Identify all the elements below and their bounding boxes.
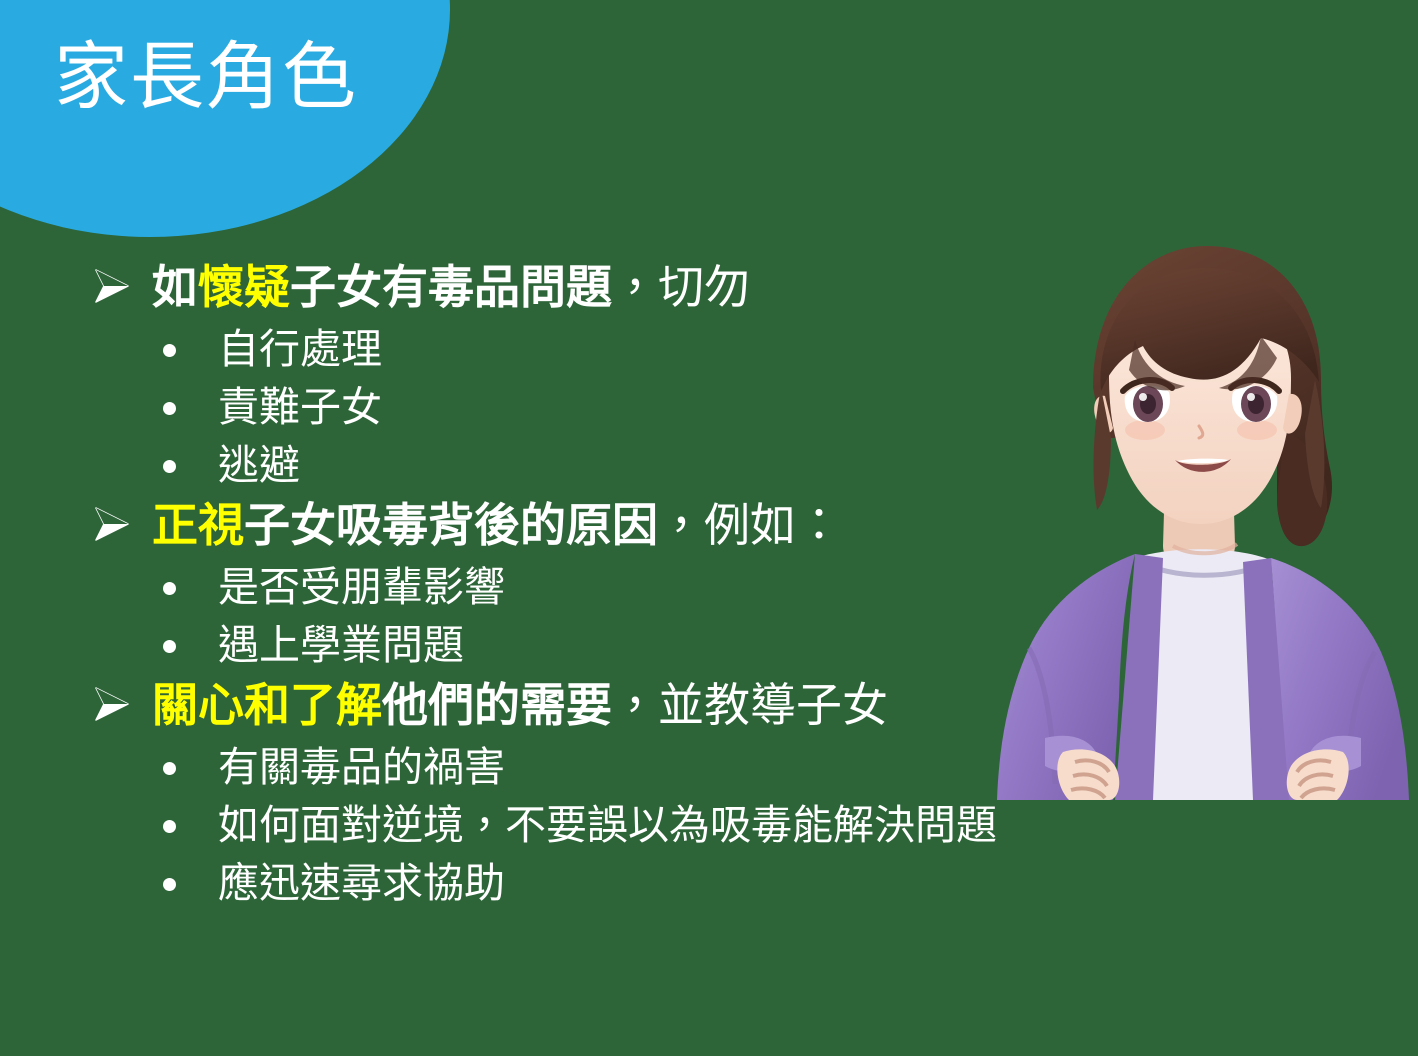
b2-part-2: ，例如： xyxy=(658,499,842,551)
sub-bullet-1-2-text: 責難子女 xyxy=(218,380,382,436)
arrow-bullet-icon xyxy=(90,264,134,308)
b3-part-2: ，並教導子女 xyxy=(612,679,888,731)
sub-bullet-1-3: 逃避 xyxy=(0,438,1010,496)
b1-part-0: 如 xyxy=(152,261,198,313)
dot-bullet-icon xyxy=(163,640,176,653)
sub-bullet-2-2: 遇上學業問題 xyxy=(0,618,1010,676)
b1-part-2: 子女有毒品問題 xyxy=(290,261,612,313)
main-bullet-3: 關心和了解他們的需要，並教導子女 xyxy=(0,676,1010,738)
arrow-bullet-icon xyxy=(90,502,134,546)
b3-part-0: 關心和了解 xyxy=(152,679,382,731)
main-bullet-2: 正視子女吸毒背後的原因，例如： xyxy=(0,496,1010,558)
b1-part-1: 懷疑 xyxy=(198,261,290,313)
dot-bullet-icon xyxy=(163,582,176,595)
sub-bullet-3-1-text: 有關毒品的禍害 xyxy=(218,740,505,796)
sub-bullet-3-3-text: 應迅速尋求協助 xyxy=(218,856,505,912)
sub-bullet-1-3-text: 逃避 xyxy=(218,438,300,494)
main-bullet-3-text: 關心和了解他們的需要，並教導子女 xyxy=(152,676,888,735)
sub-bullet-2-1-text: 是否受朋輩影響 xyxy=(218,560,505,616)
b2-part-0: 正視 xyxy=(152,499,244,551)
b3-part-1: 他們的需要 xyxy=(382,679,612,731)
main-bullet-1: 如懷疑子女有毒品問題，切勿 xyxy=(0,258,1010,320)
sub-bullet-3-3: 應迅速尋求協助 xyxy=(0,856,1010,914)
sub-bullet-3-2: 如何面對逆境，不要誤以為吸毒能解決問題 xyxy=(0,798,1010,856)
sub-bullet-2-2-text: 遇上學業問題 xyxy=(218,618,464,674)
dot-bullet-icon xyxy=(163,762,176,775)
page-title: 家長角色 xyxy=(54,38,358,116)
dot-bullet-icon xyxy=(163,344,176,357)
dot-bullet-icon xyxy=(163,820,176,833)
dot-bullet-icon xyxy=(163,878,176,891)
sub-bullet-1-1: 自行處理 xyxy=(0,322,1010,380)
anime-woman-illustration xyxy=(985,228,1410,800)
arrow-bullet-icon xyxy=(90,682,134,726)
sub-bullet-3-1: 有關毒品的禍害 xyxy=(0,740,1010,798)
bullet-list: 如懷疑子女有毒品問題，切勿 自行處理 責難子女 逃避 正視子女吸毒背後的原因，例… xyxy=(0,258,1010,914)
main-bullet-2-text: 正視子女吸毒背後的原因，例如： xyxy=(152,496,842,555)
b2-part-1: 子女吸毒背後的原因 xyxy=(244,499,658,551)
sub-bullet-1-1-text: 自行處理 xyxy=(218,322,382,378)
sub-bullet-3-2-text: 如何面對逆境，不要誤以為吸毒能解決問題 xyxy=(218,798,997,854)
sub-bullet-2-1: 是否受朋輩影響 xyxy=(0,560,1010,618)
sub-bullet-1-2: 責難子女 xyxy=(0,380,1010,438)
b1-part-3: ，切勿 xyxy=(612,261,750,313)
dot-bullet-icon xyxy=(163,402,176,415)
dot-bullet-icon xyxy=(163,460,176,473)
slide-canvas: 家長角色 xyxy=(0,0,1418,1056)
main-bullet-1-text: 如懷疑子女有毒品問題，切勿 xyxy=(152,258,750,317)
